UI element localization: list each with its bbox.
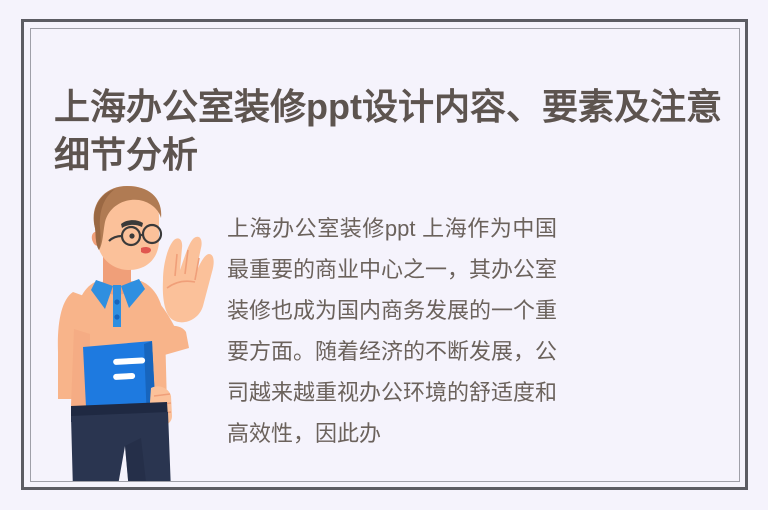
waving-hand-shape [163,237,214,323]
waving-student-illustration-svg [55,184,225,481]
right-forearm-shape [159,326,189,356]
shirt-placket-shape [113,285,121,327]
article-content: 上海办公室装修ppt设计内容、要素及注意细节分析 [31,29,739,481]
article-card: 上海办公室装修ppt设计内容、要素及注意细节分析 [21,19,748,490]
waving-student-illustration [55,184,225,481]
page-title: 上海办公室装修ppt设计内容、要素及注意细节分析 [54,83,739,179]
book-line-bottom-shape [113,373,135,380]
eye-shape [129,233,134,238]
shirt-button-upper-icon [114,299,119,304]
article-card-inner-frame: 上海办公室装修ppt设计内容、要素及注意细节分析 [30,28,740,482]
article-body-text: 上海办公室装修ppt 上海作为中国最重要的商业中心之一，其办公室装修也成为国内商… [227,208,557,454]
pants-shape [71,412,171,481]
shirt-button-lower-icon [114,314,119,319]
